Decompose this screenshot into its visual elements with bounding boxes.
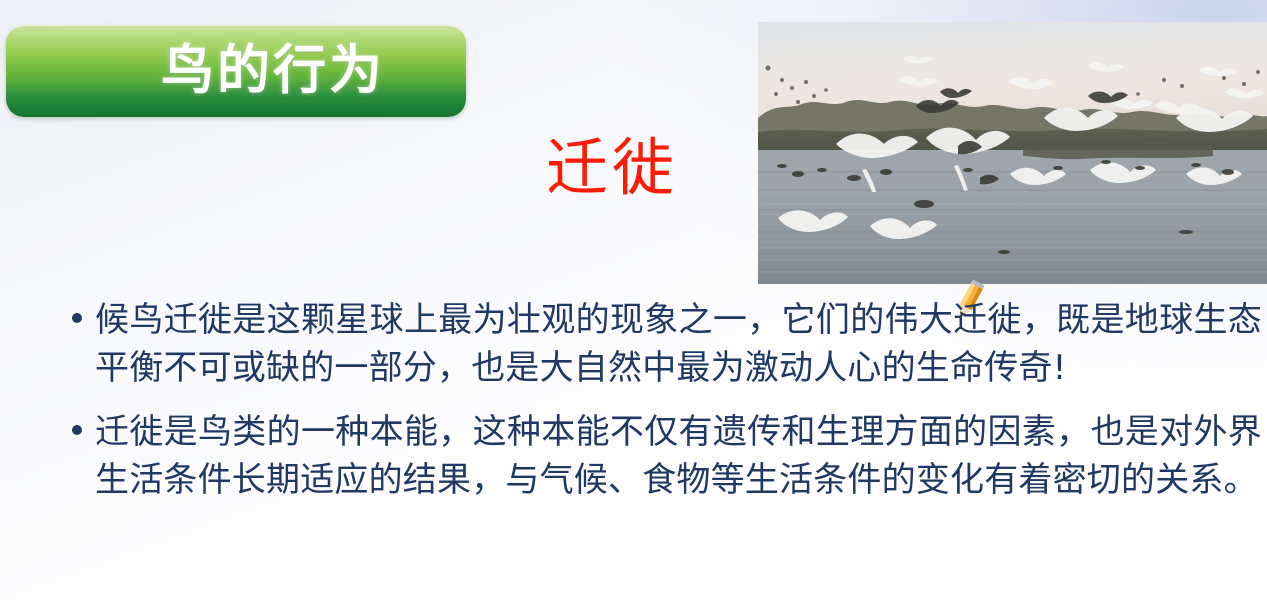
migration-photo — [758, 22, 1267, 284]
bullet-text: 候鸟迁徙是这颗星球上最为壮观的现象之一，它们的伟大迁徙，既是地球生态平衡不可或缺… — [95, 296, 1262, 392]
bullet-item: 候鸟迁徙是这颗星球上最为壮观的现象之一，它们的伟大迁徙，既是地球生态平衡不可或缺… — [72, 296, 1262, 392]
body-bullet-list: 候鸟迁徙是这颗星球上最为壮观的现象之一，它们的伟大迁徙，既是地球生态平衡不可或缺… — [72, 296, 1262, 520]
slide-canvas: 鸟的行为 迁徙 — [0, 0, 1267, 609]
title-pill-label: 鸟的行为 — [161, 44, 385, 97]
bullet-item: 迁徙是鸟类的一种本能，这种本能不仅有遗传和生理方面的因素，也是对外界生活条件长期… — [72, 408, 1262, 504]
migration-photo-illustration — [758, 22, 1267, 284]
title-pill[interactable]: 鸟的行为 — [6, 25, 466, 117]
bullet-text: 迁徙是鸟类的一种本能，这种本能不仅有遗传和生理方面的因素，也是对外界生活条件长期… — [95, 408, 1262, 504]
bullet-dot-icon — [72, 313, 82, 323]
bullet-dot-icon — [72, 425, 82, 435]
section-heading: 迁徙 — [546, 137, 678, 199]
